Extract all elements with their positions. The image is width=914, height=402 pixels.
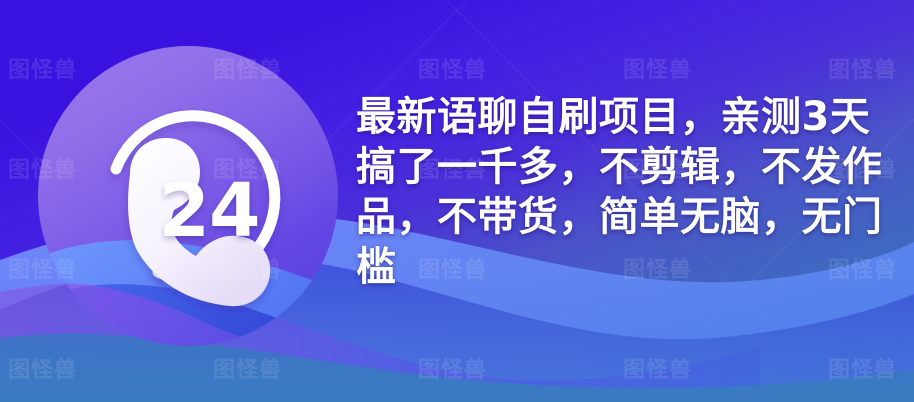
watermark-text: 图怪兽 bbox=[828, 352, 897, 384]
watermark-text: 图怪兽 bbox=[213, 352, 282, 384]
icon-glyph-layer bbox=[38, 46, 338, 346]
support-24h-disc: 24 bbox=[38, 46, 338, 346]
watermark-text: 图怪兽 bbox=[828, 52, 897, 84]
watermark-text: 图怪兽 bbox=[418, 352, 487, 384]
watermark-text: 图怪兽 bbox=[623, 352, 692, 384]
headline-text: 最新语聊自刷项目，亲测3天搞了一千多，不剪辑，不发作品，不带货，简单无脑，无门槛 bbox=[356, 92, 896, 292]
watermark-text: 图怪兽 bbox=[623, 52, 692, 84]
promo-banner: 24 最新语聊自刷项目，亲测3天搞了一千多，不剪辑，不发作品，不带货，简单无脑，… bbox=[0, 0, 914, 402]
watermark-text: 图怪兽 bbox=[418, 52, 487, 84]
watermark-text: 图怪兽 bbox=[8, 352, 77, 384]
phone-handset-icon bbox=[128, 138, 270, 306]
